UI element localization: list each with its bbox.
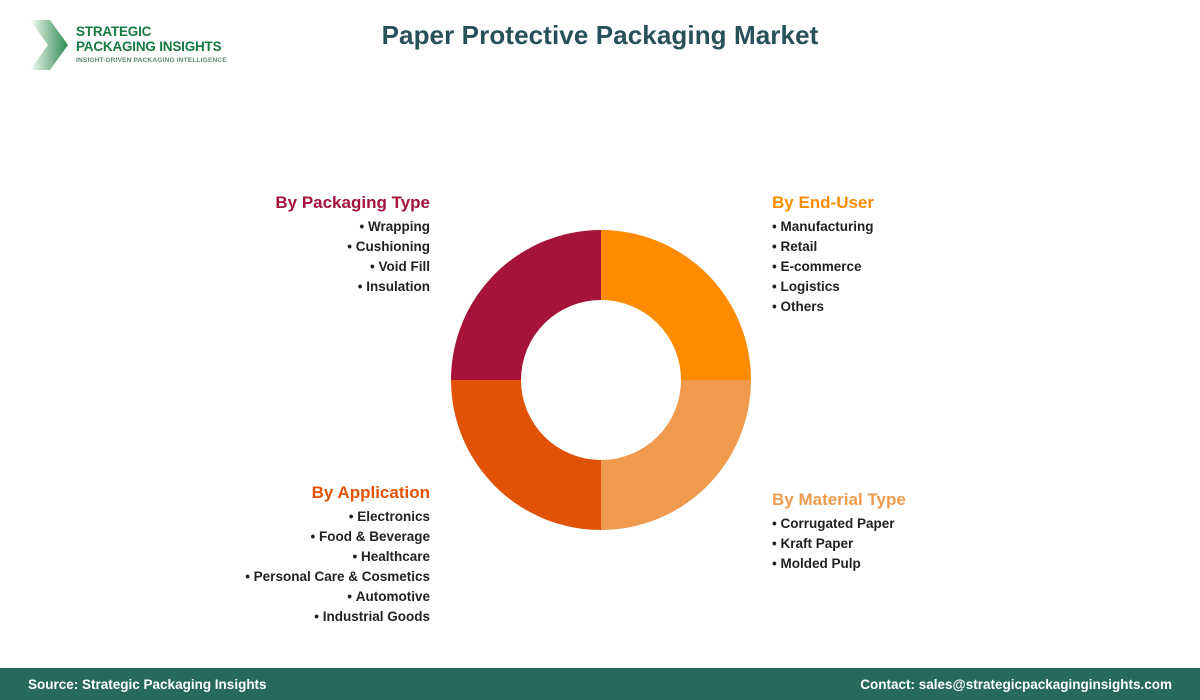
- category-title-material-type: By Material Type: [772, 490, 1072, 510]
- footer-source: Source: Strategic Packaging Insights: [28, 677, 267, 692]
- category-list-end-user: Manufacturing Retail E-commerce Logistic…: [772, 217, 1072, 317]
- list-item: E-commerce: [772, 257, 1072, 277]
- list-item: Automotive: [180, 587, 430, 607]
- donut-chart: [451, 230, 751, 530]
- list-item: Corrugated Paper: [772, 514, 1072, 534]
- donut-center-hole: [521, 300, 681, 460]
- list-item: Cushioning: [180, 237, 430, 257]
- category-block-application: By Application Electronics Food & Bevera…: [180, 483, 430, 627]
- infographic-page: STRATEGIC PACKAGING INSIGHTS INSIGHT-DRI…: [0, 0, 1200, 700]
- list-item: Retail: [772, 237, 1072, 257]
- category-list-application: Electronics Food & Beverage Healthcare P…: [180, 507, 430, 627]
- list-item: Others: [772, 297, 1072, 317]
- footer-bar: Source: Strategic Packaging Insights Con…: [0, 668, 1200, 700]
- list-item: Wrapping: [180, 217, 430, 237]
- list-item: Logistics: [772, 277, 1072, 297]
- list-item: Void Fill: [180, 257, 430, 277]
- brand-logo-tagline: INSIGHT-DRIVEN PACKAGING INTELLIGENCE: [76, 58, 227, 65]
- list-item: Kraft Paper: [772, 534, 1072, 554]
- category-list-material-type: Corrugated Paper Kraft Paper Molded Pulp: [772, 514, 1072, 574]
- list-item: Electronics: [180, 507, 430, 527]
- category-list-packaging-type: Wrapping Cushioning Void Fill Insulation: [180, 217, 430, 297]
- page-title: Paper Protective Packaging Market: [0, 20, 1200, 51]
- footer-contact: Contact: sales@strategicpackaginginsight…: [860, 677, 1172, 692]
- category-block-packaging-type: By Packaging Type Wrapping Cushioning Vo…: [180, 193, 430, 297]
- list-item: Healthcare: [180, 547, 430, 567]
- list-item: Food & Beverage: [180, 527, 430, 547]
- list-item: Insulation: [180, 277, 430, 297]
- list-item: Molded Pulp: [772, 554, 1072, 574]
- category-block-end-user: By End-User Manufacturing Retail E-comme…: [772, 193, 1072, 317]
- list-item: Manufacturing: [772, 217, 1072, 237]
- category-block-material-type: By Material Type Corrugated Paper Kraft …: [772, 490, 1072, 574]
- category-title-packaging-type: By Packaging Type: [180, 193, 430, 213]
- list-item: Industrial Goods: [180, 607, 430, 627]
- list-item: Personal Care & Cosmetics: [180, 567, 430, 587]
- category-title-application: By Application: [180, 483, 430, 503]
- category-title-end-user: By End-User: [772, 193, 1072, 213]
